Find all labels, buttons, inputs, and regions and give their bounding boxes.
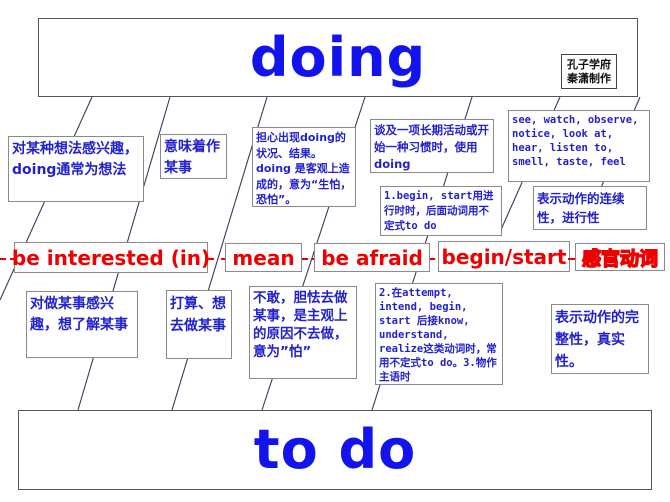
title-to-do: to do — [254, 423, 416, 477]
note-sense-complete: 表示动作的完整性，真实性。 — [551, 304, 649, 374]
watermark-stamp: 孔子学府 秦潇制作 — [561, 54, 617, 89]
watermark-line1: 孔子学府 — [567, 58, 611, 72]
key-mean[interactable]: mean — [225, 243, 302, 272]
note-be-interested-doing: 对某种想法感兴趣，doing通常为想法 — [8, 136, 144, 202]
note-be-afraid-doing: 担心出现doing的状况、结果。doing 是客观上造成的，意为“生怕，恐怕”。 — [252, 127, 356, 207]
note-begin-start-doing: 谈及一项长期活动或开始一种习惯时，使用doing — [370, 119, 494, 173]
watermark-line2: 秦潇制作 — [567, 72, 611, 86]
fishbone-diagram: doing 孔子学府 秦潇制作 to do 对某种想法感兴趣，doing通常为想… — [0, 0, 670, 502]
key-begin-start[interactable]: begin/start — [438, 241, 570, 272]
note-mean-to-do: 打算、想去做某事 — [166, 290, 232, 359]
note-sense-verb-list: see, watch, observe, notice, look at, he… — [508, 110, 650, 182]
key-be-interested[interactable]: be interested (in) — [14, 242, 208, 273]
title-doing: doing — [250, 31, 426, 85]
spine-top: doing — [38, 18, 638, 97]
note-interested-to-do: 对做某事感兴趣，想了解某事 — [26, 291, 138, 358]
note-afraid-to-do: 不敢，胆怯去做某事，是主观上的原因不去做，意为”怕” — [249, 286, 357, 379]
note-mean-doing: 意味着作某事 — [160, 134, 227, 179]
note-begin-start-progressive: 1.begin, start用进行时时，后面动词用不定式to do — [380, 186, 502, 236]
note-sense-continuous: 表示动作的连续性，进行性 — [533, 186, 647, 230]
spine-bottom: to do — [18, 410, 652, 490]
note-begin-start-to-do: 2.在attempt, intend, begin, start 后接know,… — [375, 283, 503, 385]
key-sense-verbs[interactable]: 感官动词 — [575, 243, 665, 271]
key-be-afraid[interactable]: be afraid — [314, 243, 430, 272]
